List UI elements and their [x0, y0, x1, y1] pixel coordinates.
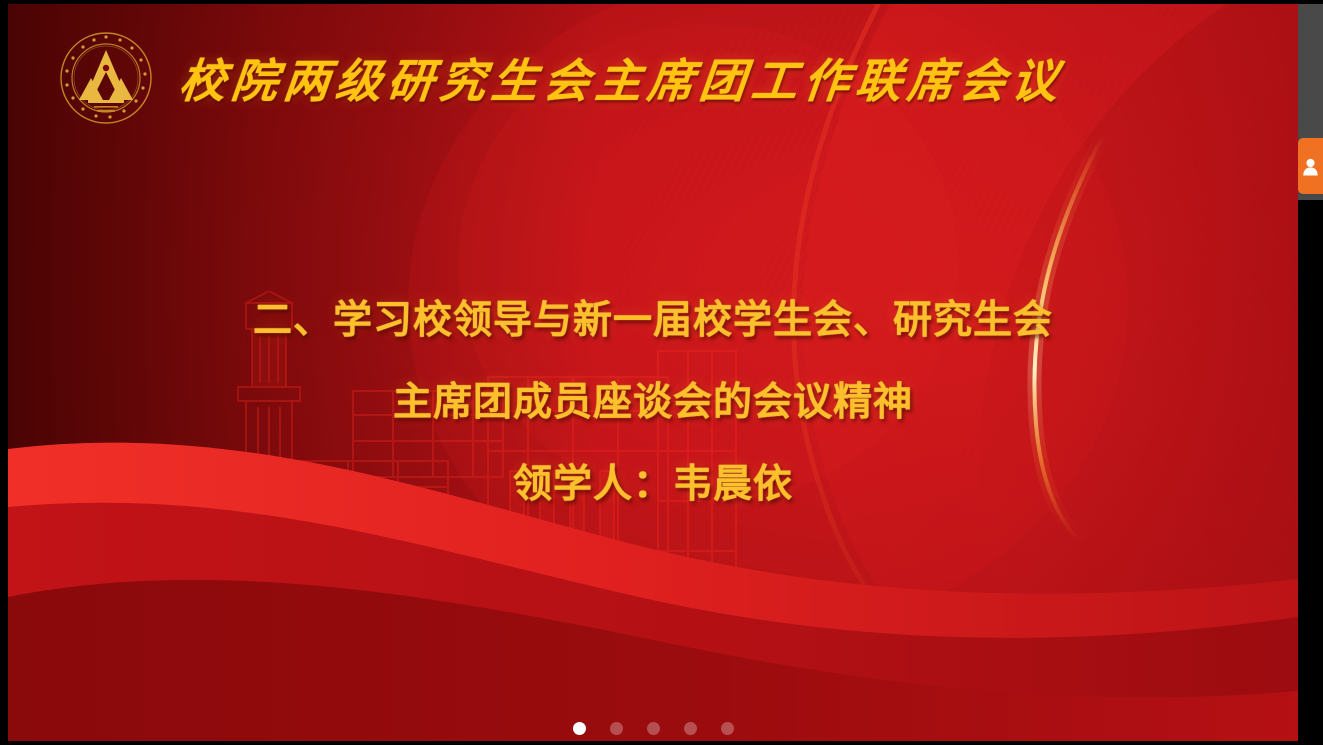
- body-line-2: 主席团成员座谈会的会议精神: [8, 374, 1298, 432]
- slide-header: 校院两级研究生会主席团工作联席会议: [8, 30, 1298, 126]
- person-icon: [1302, 157, 1319, 176]
- pagination-dot-3[interactable]: [647, 722, 660, 735]
- body-line-1: 二、学习校领导与新一届校学生会、研究生会: [8, 292, 1298, 350]
- frame-edge-top: [0, 0, 1323, 4]
- frame-edge-left: [0, 0, 8, 745]
- participants-button[interactable]: [1298, 138, 1323, 194]
- pagination-dot-5[interactable]: [721, 722, 734, 735]
- university-seal-icon: [58, 30, 154, 126]
- slide-body: 二、学习校领导与新一届校学生会、研究生会 主席团成员座谈会的会议精神 领学人：韦…: [8, 292, 1298, 514]
- screen-root: 校院两级研究生会主席团工作联席会议 二、学习校领导与新一届校学生会、研究生会 主…: [0, 0, 1323, 745]
- pagination-dot-1[interactable]: [573, 722, 586, 735]
- slide-title: 校院两级研究生会主席团工作联席会议: [177, 45, 1068, 111]
- frame-edge-bottom: [0, 741, 1323, 745]
- pagination-dot-2[interactable]: [610, 722, 623, 735]
- presentation-slide[interactable]: 校院两级研究生会主席团工作联席会议 二、学习校领导与新一届校学生会、研究生会 主…: [8, 4, 1298, 741]
- pagination-dot-4[interactable]: [684, 722, 697, 735]
- body-line-3: 领学人：韦晨依: [8, 456, 1298, 514]
- slide-pagination[interactable]: [8, 722, 1298, 735]
